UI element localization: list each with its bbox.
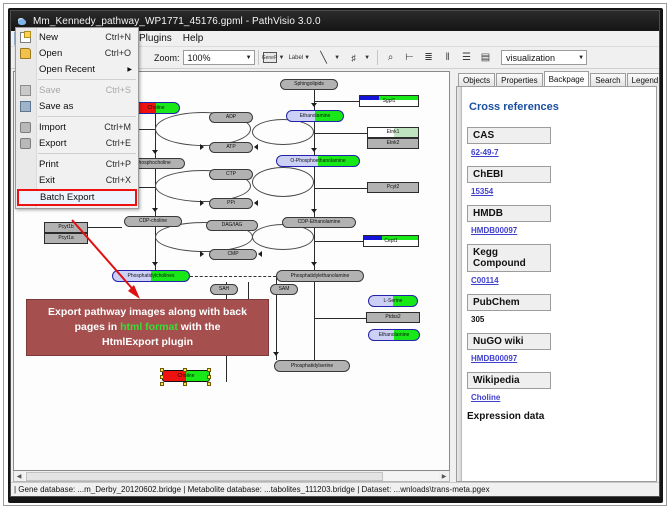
chevron-down-icon: ▼ [246,55,252,61]
connector-line [314,90,315,110]
pathway-node-label: SAM [279,287,290,292]
toolbar-separator [258,50,259,65]
menu-item-label: Save [39,85,106,96]
new-document-icon [20,32,31,43]
menu-item-help[interactable]: Help [178,32,209,45]
menu-item-label: Exit [39,175,106,186]
pathway-node[interactable]: DAG/IAG [206,220,258,231]
pathway-node[interactable]: SAH [210,284,238,295]
xref-value[interactable]: 15354 [471,187,646,196]
chevron-down-icon: ▼ [334,55,340,61]
backpage-panel: Cross references CAS62-49-7ChEBI15354HMD… [456,86,657,482]
arrow-icon [152,150,158,154]
tab-properties[interactable]: Properties [496,73,542,86]
file-menu-item-save: SaveCtrl+S [16,82,138,98]
pathway-node-label: Phosphatidylserine [291,364,333,369]
menu-item-shortcut: Ctrl+M [104,122,138,132]
selection-handle[interactable] [207,375,211,379]
connector-line [314,282,315,360]
pathway-node[interactable]: O-Phosphoethanolamine [276,155,360,167]
pathway-node-label: PPi [227,201,235,206]
pathway-node[interactable]: CTP [209,169,253,180]
reaction-loop [252,167,314,197]
xref-database-label: NuGO wiki [467,333,551,350]
chevron-down-icon: ▼ [578,55,584,61]
menu-item-label: Print [39,159,106,170]
pathway-node-label: Pcyt1a [58,236,73,241]
export-icon [20,138,31,149]
tab-search[interactable]: Search [590,73,625,86]
menu-item-label: Save as [39,101,131,112]
selection-handle[interactable] [207,382,211,386]
arrow-icon [258,251,262,257]
xref-database-label: Wikipedia [467,372,551,389]
menu-item-shortcut: Ctrl+X [106,175,138,185]
file-menu-item-exit[interactable]: ExitCtrl+X [16,172,138,188]
label-tool-text: Label [288,55,303,61]
pathway-node-label: SAH [219,287,229,292]
callout-line-2b: with the [178,321,221,333]
arrow-icon [254,200,258,206]
pathway-node-label: Phosphocholine [135,161,171,166]
selection-handle[interactable] [207,368,211,372]
callout-line-1: Export pathway images along with back [48,305,247,320]
status-bar: | Gene database: ...m_Derby_20120602.bri… [11,482,659,496]
pathway-node-label: Choline [178,374,195,379]
menu-item-shortcut: Ctrl+P [106,159,138,169]
label-tool[interactable]: Label ▼ [288,55,314,61]
visualization-value: visualization [506,53,555,63]
pathway-node-label: DAG/IAG [222,223,243,228]
stack-icon[interactable]: ☰ [458,49,475,66]
arrow-icon [311,103,317,107]
pathway-node[interactable]: Ethanolamine [368,329,420,341]
pathway-node[interactable]: CDP-choline [124,216,182,227]
pathway-node[interactable]: CMP [209,249,257,260]
scroll-right-icon[interactable]: ▶ [439,473,449,480]
file-menu-item-open[interactable]: OpenCtrl+O [16,45,138,61]
pathway-node-label: Etnk2 [387,141,400,146]
xref-block: PubChem305 [467,294,646,324]
menu-item-label: Export [39,138,106,149]
scrollbar-thumb[interactable] [26,472,383,481]
arrow-icon [254,144,258,150]
file-menu-item-new[interactable]: NewCtrl+N [16,29,138,45]
arrow-icon [152,208,158,212]
gene-product-icon: GeneP [263,52,277,63]
align-top-icon[interactable]: ⌕ [382,49,399,66]
pathway-node-label: Ethanolamine [379,333,410,338]
file-menu-item-export[interactable]: ExportCtrl+E [16,135,138,151]
xref-link[interactable]: C00114 [471,276,499,285]
pathway-node[interactable]: ATP [209,142,253,153]
side-panel: Objects Properties Backpage Search Legen… [450,69,659,482]
connector-line [314,101,359,102]
shape-tool[interactable]: ♯ ▼ [344,49,374,66]
toolbar-separator [377,50,378,65]
line-tool[interactable]: ╲ ▼ [314,49,344,66]
selection-handle[interactable] [160,375,164,379]
arrow-icon [311,262,317,266]
tab-backpage[interactable]: Backpage [544,71,590,86]
xref-database-label: PubChem [467,294,551,311]
zoom-value: 100% [188,53,211,63]
receptor-shape-icon: ♯ [345,49,362,66]
xref-block: HMDBHMDB00097 [467,205,646,235]
align-center-icon[interactable]: ≣ [420,49,437,66]
scrollbar-track[interactable] [24,472,439,481]
selection-handle[interactable] [183,368,187,372]
save-as-icon [20,101,31,112]
pathway-node[interactable]: Ptdss2 [366,312,420,323]
pathway-node[interactable]: Phosphatidylserine [274,360,350,372]
xref-database-label: HMDB [467,205,551,222]
callout-line-2a: pages in [75,321,121,333]
pathway-node[interactable]: ADP [209,112,253,123]
pathway-node[interactable]: CDP-Ethanolamine [282,217,356,228]
arrow-icon [311,148,317,152]
xref-value[interactable]: 62-49-7 [471,148,646,157]
file-menu-item-import[interactable]: ImportCtrl+M [16,119,138,135]
annotation-callout: Export pathway images along with back pa… [26,299,269,356]
expression-data-title: Expression data [467,411,646,422]
pathvisio-window: Mm_Kennedy_pathway_WP1771_45176.gpml - P… [10,10,660,497]
menu-item-shortcut: Ctrl+O [105,48,138,58]
arrow-icon [200,144,204,150]
file-menu-item-print[interactable]: PrintCtrl+P [16,156,138,172]
file-menu-item-save-as[interactable]: Save as [16,98,138,114]
pathway-node[interactable]: PPi [209,198,253,209]
pathway-node-label: CDP-choline [139,219,167,224]
screenshot-root: Mm_Kennedy_pathway_WP1771_45176.gpml - P… [0,0,670,509]
distribute-horizontal-icon[interactable]: ‖ [439,49,456,66]
pathway-node[interactable]: Phosphatidylethanolamine [276,270,364,282]
connector-line [314,188,367,189]
pathway-node[interactable]: Etnk2 [367,138,419,149]
xref-block: CAS62-49-7 [467,127,646,157]
status-text: | Gene database: ...m_Derby_20120602.bri… [14,485,490,494]
pathway-node-label: Sgpl1 [383,99,396,104]
xref-link[interactable]: Choline [471,393,500,402]
open-folder-icon [20,48,31,59]
align-left-icon[interactable]: ⊢ [401,49,418,66]
selection-handle[interactable] [160,368,164,372]
menu-item-label: Import [39,122,104,133]
selection-handle[interactable] [160,382,164,386]
save-disk-icon [20,85,31,96]
arrow-icon [152,262,158,266]
pathway-node-label: O-Phosphoethanolamine [290,159,345,164]
chevron-down-icon: ▼ [304,55,310,61]
menu-item-label: Batch Export [40,192,128,203]
pathway-node-label: ATP [226,145,235,150]
xref-value: 305 [471,315,646,324]
pathway-node[interactable]: Phosphatidylcholines [112,270,190,282]
xref-block: Kegg CompoundC00114 [467,244,646,285]
pathway-node-label: CMP [227,252,238,257]
pathway-node-label: Phosphatidylethanolamine [291,274,350,279]
pathway-node[interactable]: Ethanolamine [286,110,344,122]
menu-item-shortcut: Ctrl+N [105,32,138,42]
connector-line-dashed [190,276,276,277]
tab-legend[interactable]: Legend [627,73,660,86]
xref-value[interactable]: Choline [471,393,646,402]
file-menu-item-batch-export[interactable]: Batch Export [17,189,137,206]
menu-separator [38,116,136,117]
xref-block: WikipediaCholine [467,372,646,402]
connector-line [314,318,366,319]
side-panel-tabs: Objects Properties Backpage Search Legen… [450,71,657,86]
pathway-node-label: Choline [148,106,165,111]
reaction-loop [252,119,314,145]
xref-database-label: ChEBI [467,166,551,183]
arrow-icon [273,352,279,356]
xref-value[interactable]: HMDB00097 [471,354,646,363]
pathway-node[interactable]: Choline [132,102,180,114]
pathway-node-label: CTP [226,172,236,177]
zoom-label: Zoom: [154,53,180,63]
pathway-node[interactable]: Cept1 [363,235,419,247]
connector-line [314,241,363,242]
gene-product-tool[interactable]: GeneP ▼ [262,52,289,63]
xref-block: NuGO wikiHMDB00097 [467,333,646,363]
callout-highlight: html format [120,321,178,333]
xref-block: ChEBI15354 [467,166,646,196]
pathway-node[interactable]: Sgpl1 [359,95,419,107]
pathway-node-label: Pcyt2 [387,185,400,190]
connector-line [88,227,122,228]
pathway-node[interactable]: L-Serine [368,295,418,307]
xref-link[interactable]: HMDB00097 [471,354,517,363]
pathway-node[interactable]: Pcyt2 [367,182,419,193]
pathway-node-label: L-Serine [384,299,403,304]
xref-link[interactable]: HMDB00097 [471,226,517,235]
connector-line [314,133,367,134]
menu-separator [38,79,136,80]
xref-value[interactable]: HMDB00097 [471,226,646,235]
pathway-node-label: Pcyt1b [58,225,73,230]
pathway-node[interactable]: SAM [270,284,298,295]
group-icon[interactable]: ▤ [477,49,494,66]
pathway-node[interactable]: Pcyt1b [44,222,88,233]
window-title: Mm_Kennedy_pathway_WP1771_45176.gpml - P… [33,16,321,27]
pathway-node-label: Sphingolipids [294,82,324,87]
menu-item-label: New [39,32,105,43]
menu-item-label: Open Recent [39,64,127,75]
chevron-down-icon: ▼ [364,55,370,61]
panel-edge [457,87,462,481]
pathway-node[interactable]: Pcyt1a [44,233,88,244]
chevron-down-icon: ▼ [279,55,285,61]
menu-item-plugins[interactable]: Plugins [134,32,177,45]
menu-separator [38,153,136,154]
pathvisio-icon [17,16,28,27]
pathway-node-label: Phosphatidylcholines [128,274,175,279]
cross-references-title: Cross references [469,101,646,113]
file-menu-dropdown[interactable]: NewCtrl+NOpenCtrl+OOpen Recent▶SaveCtrl+… [15,27,139,209]
arrow-icon [200,200,204,206]
line-icon: ╲ [315,49,332,66]
pathway-node[interactable]: Etnk1 [367,127,419,138]
pathway-node-label: Ptdss2 [385,315,400,320]
menu-item-label: Open [39,48,105,59]
zoom-combo[interactable]: 100% ▼ [183,50,255,65]
xref-database-label: CAS [467,127,551,144]
visualization-combo[interactable]: visualization ▼ [501,50,587,65]
menu-item-shortcut: Ctrl+E [106,138,138,148]
menu-item-shortcut: Ctrl+S [106,85,138,95]
arrow-icon [311,209,317,213]
xref-value[interactable]: C00114 [471,276,646,285]
tab-objects[interactable]: Objects [458,73,495,86]
arrow-icon [200,251,204,257]
cross-reference-list: CAS62-49-7ChEBI15354HMDBHMDB00097Kegg Co… [467,127,646,402]
callout-line-3: HtmlExport plugin [48,335,247,350]
selection-handle[interactable] [183,382,187,386]
pathway-node-label: Cept1 [384,239,397,244]
scroll-left-icon[interactable]: ◀ [14,473,24,480]
submenu-arrow-icon: ▶ [127,66,138,73]
pathway-node-label: ADP [226,115,236,120]
pathway-node-label: Ethanolamine [300,114,331,119]
pathway-node[interactable]: Sphingolipids [280,79,338,90]
pathway-node-label: CDP-Ethanolamine [298,220,341,225]
import-icon [20,122,31,133]
canvas-horizontal-scrollbar[interactable]: ◀ ▶ [13,471,450,482]
xref-database-label: Kegg Compound [467,244,551,272]
xref-link[interactable]: 62-49-7 [471,148,499,157]
xref-link[interactable]: 15354 [471,187,493,196]
file-menu-item-open-recent[interactable]: Open Recent▶ [16,61,138,77]
pathway-node-label: Etnk1 [387,130,400,135]
